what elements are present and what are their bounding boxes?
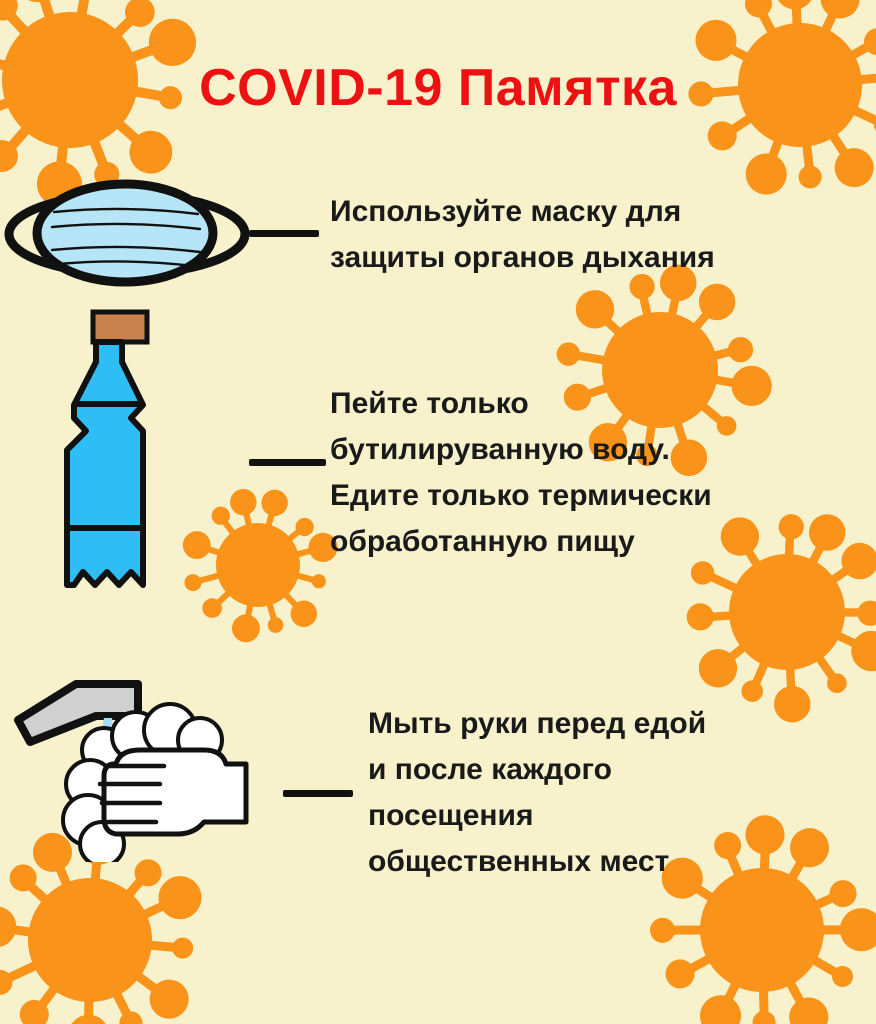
connector-line-mask [249, 230, 319, 237]
advice-line: и после каждого [368, 747, 706, 793]
advice-line: Мыть руки перед едой [368, 701, 706, 747]
connector-line-water [249, 459, 326, 466]
advice-line: защиты органов дыхания [330, 235, 715, 281]
poster-content-layer: COVID-19 Памятка [0, 0, 876, 1024]
advice-text-water: Пейте только бутилируванную воду. Едите … [330, 381, 712, 565]
page-title: COVID-19 Памятка [0, 62, 876, 114]
water-bottle-icon [50, 300, 190, 600]
advice-line: Едите только термически [330, 473, 712, 519]
surgical-mask-icon [2, 178, 252, 290]
advice-line: обработанную пищу [330, 519, 712, 565]
advice-line: посещения [368, 793, 706, 839]
advice-line: бутилируванную воду. [330, 427, 712, 473]
handwash-icon [8, 672, 288, 862]
advice-line: общественных мест [368, 839, 706, 885]
connector-line-hands [283, 790, 353, 797]
advice-line: Пейте только [330, 381, 712, 427]
advice-line: Используйте маску для [330, 189, 715, 235]
covid-infographic-poster: COVID-19 Памятка [0, 0, 876, 1024]
advice-text-mask: Используйте маску для защиты органов дых… [330, 189, 715, 281]
advice-text-hands: Мыть руки перед едой и после каждого пос… [368, 701, 706, 885]
